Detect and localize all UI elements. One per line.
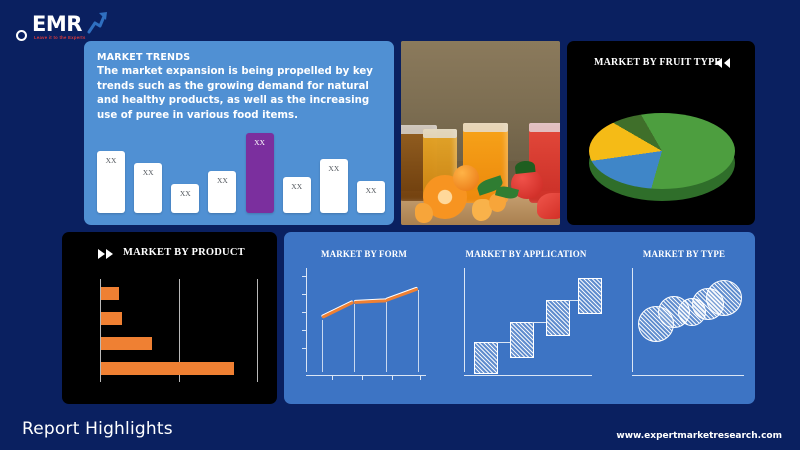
trend-bar-label: XX	[134, 168, 162, 177]
growth-arrow-icon	[86, 10, 108, 34]
trend-bar: XX	[283, 177, 311, 213]
trend-bar: XX	[246, 133, 274, 213]
trend-bar: XX	[97, 151, 125, 213]
product-bar	[101, 287, 119, 300]
footer-url[interactable]: www.expertmarketresearch.com	[616, 431, 782, 441]
market-by-fruit-type-pie	[589, 109, 735, 205]
market-trends-bar-chart: XXXXXXXXXXXXXXXX	[97, 133, 385, 213]
market-by-fruit-type-title: MARKET BY FRUIT TYPE	[594, 57, 721, 68]
trend-bar-label: XX	[283, 182, 311, 191]
market-by-application-chart: MARKET BY APPLICATION	[442, 232, 610, 404]
market-by-fruit-type-panel: MARKET BY FRUIT TYPE	[567, 41, 755, 225]
product-bar	[101, 362, 234, 375]
market-trends-body: The market expansion is being propelled …	[97, 65, 387, 123]
trend-bar: XX	[208, 171, 236, 213]
market-by-product-title: MARKET BY PRODUCT	[123, 247, 245, 258]
trend-bar-label: XX	[97, 156, 125, 165]
fruit-juice-photo	[401, 41, 560, 225]
trend-bar: XX	[134, 163, 162, 213]
bottom-charts-panel: MARKET BY FORM	[284, 232, 755, 404]
product-gridline	[257, 279, 258, 382]
footer: Report Highlights www.expertmarketresear…	[0, 409, 800, 450]
trend-bar-label: XX	[171, 189, 199, 198]
pie-surface	[589, 113, 735, 189]
trend-bar-label: XX	[208, 176, 236, 185]
logo-tagline: Leave it to the Experts	[34, 35, 86, 40]
market-by-application-plot	[464, 268, 592, 376]
market-by-product-bar-chart	[100, 279, 258, 382]
logo-mark: EMR Leave it to the Experts	[14, 10, 124, 40]
market-by-form-plot	[306, 268, 426, 376]
trend-bar-label: XX	[357, 186, 385, 195]
trend-bar: XX	[357, 181, 385, 213]
market-by-type-title: MARKET BY TYPE	[614, 249, 754, 259]
trend-bar-label: XX	[246, 138, 274, 147]
market-by-product-panel: MARKET BY PRODUCT	[62, 232, 277, 404]
footer-title: Report Highlights	[22, 419, 173, 439]
logo-text: EMR	[32, 14, 82, 35]
tomato-stem	[514, 160, 535, 174]
market-trends-title: MARKET TRENDS	[97, 52, 190, 63]
market-by-type-chart: MARKET BY TYPE	[614, 232, 754, 404]
tomato-slice	[537, 193, 560, 219]
double-chevron-left-icon[interactable]	[713, 57, 733, 69]
market-by-type-plot	[632, 268, 744, 376]
market-by-application-title: MARKET BY APPLICATION	[442, 249, 610, 259]
trend-bar-label: XX	[320, 164, 348, 173]
trend-bar: XX	[320, 159, 348, 213]
orange-whole	[453, 165, 479, 191]
orange-wedge-a	[415, 203, 433, 223]
market-by-form-title: MARKET BY FORM	[288, 249, 440, 259]
trend-bar: XX	[171, 184, 199, 213]
product-bar	[101, 337, 152, 350]
product-bar	[101, 312, 122, 325]
market-trends-panel: MARKET TRENDS The market expansion is be…	[84, 41, 394, 225]
infographic-canvas: EMR Leave it to the Experts MARKET TREND…	[0, 0, 800, 450]
market-by-form-chart: MARKET BY FORM	[288, 232, 440, 404]
brand-logo[interactable]: EMR Leave it to the Experts	[14, 6, 124, 40]
double-chevron-right-icon[interactable]	[95, 248, 117, 260]
logo-ring-icon	[16, 30, 27, 41]
